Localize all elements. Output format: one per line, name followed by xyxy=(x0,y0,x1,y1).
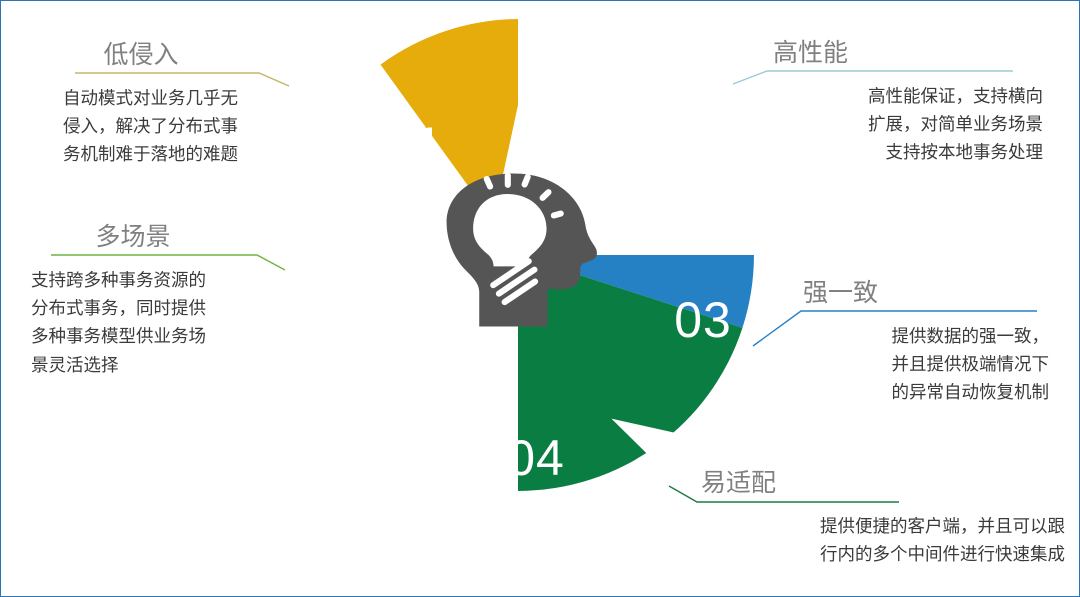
infographic-slide: 01 02 03 04 05 xyxy=(0,0,1080,597)
callout-05-title: 多场景 xyxy=(13,223,285,252)
segment-04-number: 04 xyxy=(507,430,565,486)
callout-05-body: 支持跨多种事务资源的 分布式事务，同时提供 多种事务模型供业务场 景灵活选择 xyxy=(13,266,285,379)
segment-05-number: 05 xyxy=(345,298,403,354)
callout-03-body: 提供数据的强一致， 并且提供极端情况下 的异常自动恢复机制 xyxy=(791,322,1071,407)
callout-01-body: 自动模式对业务几乎无 侵入，解决了分布式事 务机制难于落地的难题 xyxy=(23,84,291,169)
callout-01[interactable]: 低侵入 自动模式对业务几乎无 侵入，解决了分布式事 务机制难于落地的难题 xyxy=(23,41,291,169)
callout-04-body: 提供便捷的客户端，并且可以跟 行内的多个中间件进行快速集成 xyxy=(691,512,1073,569)
callout-03-rule xyxy=(791,308,1071,322)
callout-01-title: 低侵入 xyxy=(23,41,291,70)
callout-02[interactable]: 高性能 高性能保证，支持横向 扩展，对简单业务场景 支持按本地事务处理 xyxy=(761,39,1051,167)
callout-04-title: 易适配 xyxy=(691,469,1073,498)
segment-01-number: 01 xyxy=(386,117,444,173)
segment-03-number: 03 xyxy=(674,292,732,348)
callout-01-rule xyxy=(23,70,291,84)
callout-03[interactable]: 强一致 提供数据的强一致， 并且提供极端情况下 的异常自动恢复机制 xyxy=(791,279,1071,407)
callout-02-rule xyxy=(761,68,1051,82)
pentagon-star-wheel: 01 02 03 04 05 xyxy=(282,19,754,491)
callout-02-body: 高性能保证，支持横向 扩展，对简单业务场景 支持按本地事务处理 xyxy=(761,82,1051,167)
callout-03-title: 强一致 xyxy=(791,279,1071,308)
callout-02-title: 高性能 xyxy=(761,39,1051,68)
callout-05[interactable]: 多场景 支持跨多种事务资源的 分布式事务，同时提供 多种事务模型供业务场 景灵活… xyxy=(13,223,285,379)
segment-02-number: 02 xyxy=(597,113,655,169)
callout-04[interactable]: 易适配 提供便捷的客户端，并且可以跟 行内的多个中间件进行快速集成 xyxy=(691,469,1073,568)
callout-04-rule xyxy=(691,498,1073,512)
callout-05-rule xyxy=(13,252,285,266)
